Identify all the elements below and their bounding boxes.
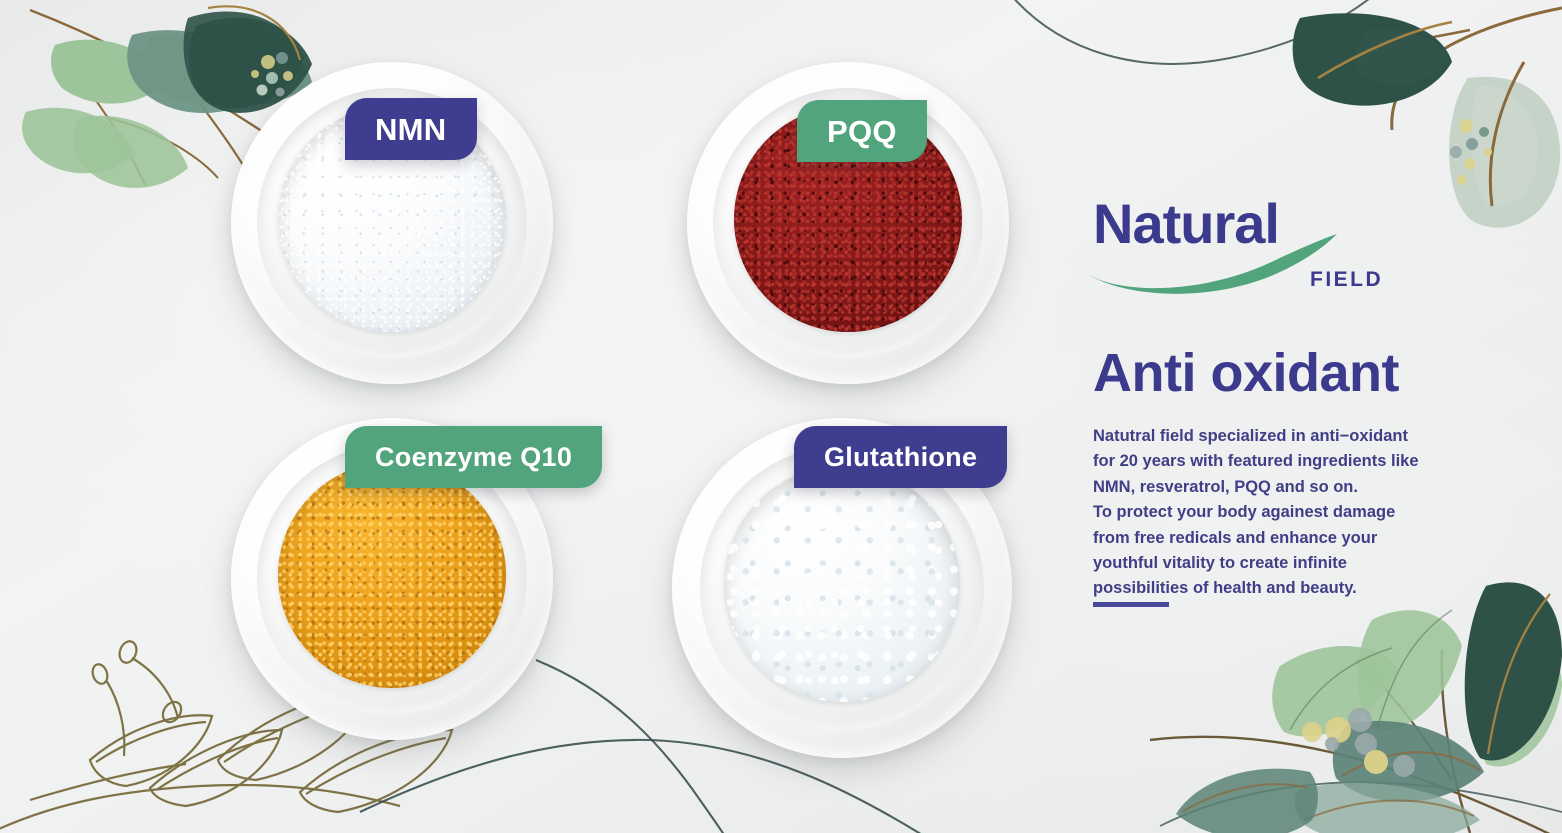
product-badge-label: NMN xyxy=(375,114,447,145)
product-badge-label: PQQ xyxy=(827,116,897,147)
product-badge-label: Glutathione xyxy=(824,444,977,471)
description-line: possibilities of health and beauty. xyxy=(1093,576,1443,601)
logo-sub-wordmark: FIELD xyxy=(1310,268,1383,292)
page-title: Anti oxidant xyxy=(1093,345,1399,402)
description-line: NMN, resveratrol, PQQ and so on. xyxy=(1093,475,1443,500)
product-badge-label: Coenzyme Q10 xyxy=(375,444,572,471)
brand-logo[interactable]: Natural FIELD xyxy=(1093,196,1433,306)
banner-root: NMN PQQ Coenzyme Q10 Glutathione Natural… xyxy=(0,0,1562,833)
powder-glutathione xyxy=(724,466,960,702)
description-line: from free redicals and enhance your xyxy=(1093,526,1443,551)
accent-underline-bar xyxy=(1093,602,1169,607)
product-badge-pqq[interactable]: PQQ xyxy=(797,100,927,162)
description-text: Natutral field specialized in anti−oxida… xyxy=(1093,424,1443,602)
description-line: for 20 years with featured ingredients l… xyxy=(1093,449,1443,474)
product-badge-nmn[interactable]: NMN xyxy=(345,98,477,160)
logo-wordmark: Natural xyxy=(1093,196,1279,252)
product-badge-coq10[interactable]: Coenzyme Q10 xyxy=(345,426,602,488)
description-line: Natutral field specialized in anti−oxida… xyxy=(1093,424,1443,449)
description-line: youthful vitality to create infinite xyxy=(1093,551,1443,576)
product-badge-glutathione[interactable]: Glutathione xyxy=(794,426,1007,488)
powder-coq10 xyxy=(278,462,506,688)
description-line: To protect your body againest damage xyxy=(1093,500,1443,525)
